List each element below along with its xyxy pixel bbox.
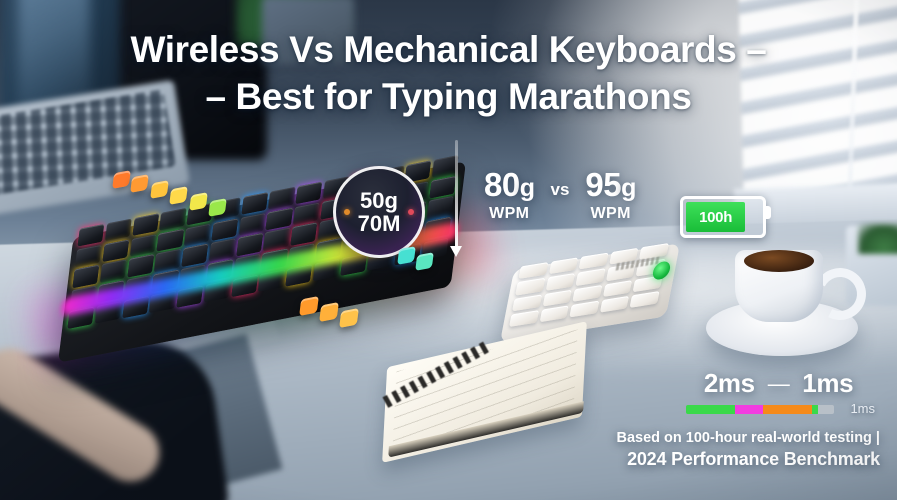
title-line-2: – Best for Typing Marathons — [0, 73, 897, 120]
keycap — [132, 213, 159, 236]
badge-dot-right-icon — [408, 209, 414, 215]
keycap — [429, 176, 456, 199]
badge-actuation-weight: 50g — [360, 189, 398, 212]
keypad-key — [576, 268, 606, 285]
latency-comparison: 2ms — 1ms 1ms — [686, 368, 871, 414]
wpm-right-unit: g — [621, 174, 636, 202]
keycap — [268, 187, 295, 210]
page-title: Wireless Vs Mechanical Keyboards – – Bes… — [0, 26, 897, 121]
badge-dot-left-icon — [344, 209, 350, 215]
keypad-key — [549, 257, 579, 274]
keycap — [105, 219, 132, 242]
right-planter-foliage — [858, 224, 897, 254]
keycap — [295, 182, 322, 205]
keycap — [102, 239, 129, 262]
latency-values: 2ms — 1ms — [686, 368, 871, 399]
wpm-right-value: 95 — [585, 166, 621, 203]
keycap — [154, 249, 181, 272]
wpm-left-value: 80 — [484, 166, 520, 203]
keycap — [266, 207, 293, 230]
caption-line-1: Based on 100-hour real-world testing | — [560, 430, 880, 446]
latency-bar-segment-1 — [735, 405, 763, 414]
keycap — [77, 224, 104, 247]
latency-bar-segment-0 — [686, 405, 735, 414]
badge-switch-lifespan: 70M — [358, 212, 401, 235]
spec-badge: 50g 70M — [333, 166, 425, 258]
keycap — [72, 265, 99, 288]
latency-bar-segment-2 — [763, 405, 812, 414]
keycap — [427, 196, 454, 219]
wpm-comparison: 80g WPM vs 95g WPM — [484, 168, 636, 223]
wpm-right-value-group: 95g — [585, 168, 636, 201]
wpm-left-unit: g — [520, 174, 535, 202]
keycap — [236, 233, 263, 256]
keycap — [241, 192, 268, 215]
battery-label: 100h — [699, 209, 732, 226]
versus-separator: vs — [551, 180, 570, 200]
keycap — [211, 218, 238, 241]
latency-dash: — — [768, 371, 790, 397]
latency-sub-label: 1ms — [850, 401, 875, 416]
keypad-key — [603, 280, 633, 297]
keycap — [293, 202, 320, 225]
keypad-key — [545, 273, 575, 290]
latency-bar — [686, 405, 834, 414]
keycap — [181, 244, 208, 267]
keycap — [129, 234, 156, 257]
keycap — [184, 223, 211, 246]
keycap — [100, 260, 127, 283]
keypad-key — [542, 289, 572, 306]
latency-bar-segment-4 — [818, 405, 834, 414]
footer-caption: Based on 100-hour real-world testing | 2… — [560, 430, 880, 470]
keycap — [159, 208, 186, 231]
latency-right-value: 1ms — [802, 368, 853, 399]
keycap — [238, 213, 265, 236]
title-line-1: Wireless Vs Mechanical Keyboards – — [131, 29, 767, 70]
battery-fill-level: 100h — [686, 202, 745, 232]
keycap — [127, 254, 154, 277]
keycap — [157, 229, 184, 252]
latency-left-value: 2ms — [704, 368, 755, 399]
keypad-key — [512, 294, 542, 311]
keypad-key — [573, 284, 603, 301]
wpm-left-value-group: 80g — [484, 168, 535, 201]
wpm-right: 95g WPM — [585, 168, 636, 223]
battery-icon: 100h — [680, 196, 766, 238]
keycap — [263, 228, 290, 251]
keypad-key — [579, 253, 609, 270]
keycap — [209, 239, 236, 262]
wpm-left-label: WPM — [484, 205, 535, 223]
down-arrow-icon — [455, 140, 458, 248]
infographic-canvas: Wireless Vs Mechanical Keyboards – – Bes… — [0, 0, 897, 500]
keypad-key — [518, 262, 548, 279]
caption-line-2: 2024 Performance Benchmark — [560, 449, 880, 470]
keypad-key — [515, 278, 545, 295]
coffee-liquid — [744, 250, 814, 272]
wpm-left: 80g WPM — [484, 168, 535, 223]
keycap — [290, 223, 317, 246]
keycap — [75, 244, 102, 267]
wpm-right-label: WPM — [585, 205, 636, 223]
